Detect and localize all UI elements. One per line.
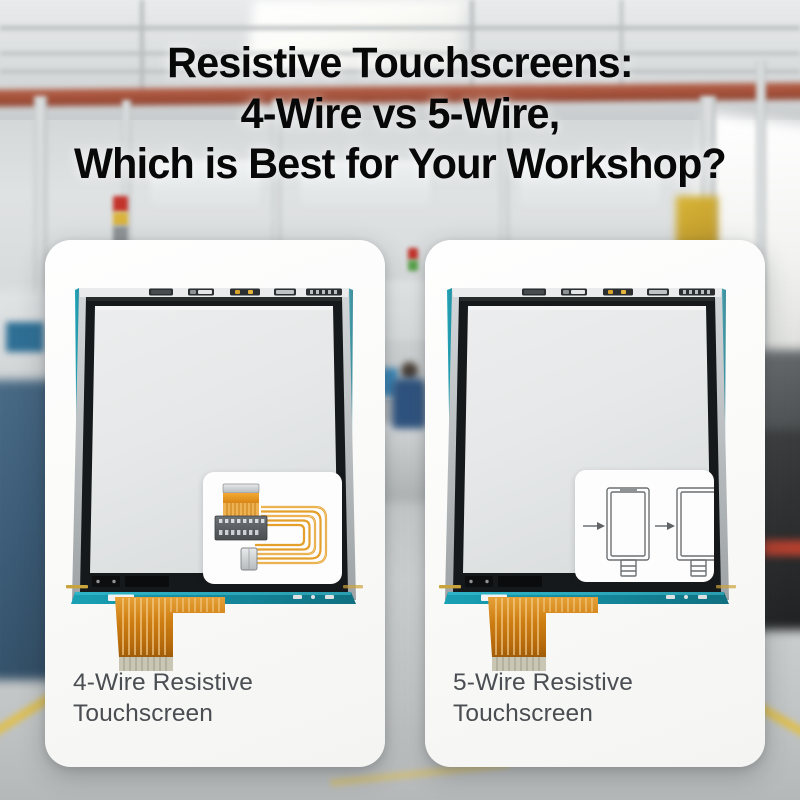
signal-tower-amber: [113, 212, 128, 226]
inset-panel-comparison-diagram: [575, 470, 714, 582]
ceiling-truss: [0, 26, 800, 30]
flex-ribbon-cable: [486, 595, 616, 673]
title-line-3: Which is Best for Your Workshop?: [16, 139, 784, 190]
flex-ribbon-cable: [113, 595, 243, 673]
card-label-five-wire: 5-Wire Resistive Touchscreen: [453, 668, 743, 730]
touch-panel-four-wire: [45, 240, 385, 660]
touch-panel-five-wire: [425, 240, 765, 660]
inset-fpc-connector-diagram: [203, 472, 342, 584]
signal-tower-red: [408, 248, 418, 260]
card-label-line-2: Touchscreen: [453, 699, 743, 730]
fpc-connector-graphic: [203, 472, 342, 584]
background-machine-screen: [6, 322, 44, 352]
page-title: Resistive Touchscreens: 4-Wire vs 5-Wire…: [16, 38, 784, 190]
signal-tower-red: [113, 196, 128, 212]
card-four-wire[interactable]: 4-Wire Resistive Touchscreen: [45, 240, 385, 767]
background-worker: [392, 378, 426, 432]
card-five-wire[interactable]: 5-Wire Resistive Touchscreen: [425, 240, 765, 767]
title-line-2: 4-Wire vs 5-Wire,: [16, 89, 784, 140]
panel-comparison-graphic: [575, 470, 714, 582]
card-label-four-wire: 4-Wire Resistive Touchscreen: [73, 668, 363, 730]
title-line-1: Resistive Touchscreens:: [16, 38, 784, 89]
signal-tower-green: [408, 260, 418, 271]
background-machine-accent: [762, 540, 800, 556]
card-label-line-2: Touchscreen: [73, 699, 363, 730]
